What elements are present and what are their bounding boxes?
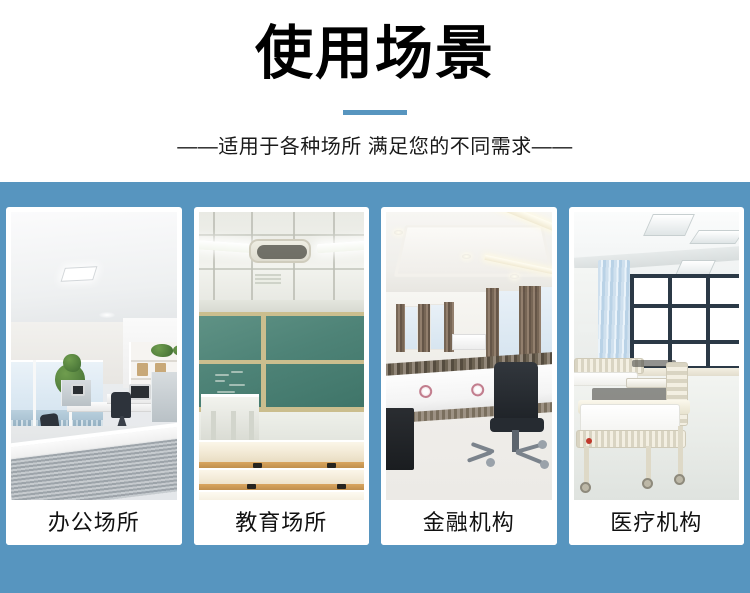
- bank-office-chair-icon: [494, 362, 538, 424]
- bank-chair-caster: [486, 458, 495, 467]
- office-panel-light-icon: [61, 266, 98, 282]
- hospital-window-mullion: [668, 278, 672, 366]
- classroom-ceiling-grid: [199, 234, 365, 236]
- classroom-desk-row: [199, 490, 365, 500]
- bank-window: [498, 290, 520, 358]
- office-downlight-icon: [99, 312, 115, 318]
- office-monitor-icon: [129, 384, 151, 400]
- office-monitor-icon: [71, 384, 85, 396]
- classroom-ceiling-grid: [333, 212, 335, 304]
- classroom-chalk-writing: [231, 371, 243, 373]
- classroom-ceiling-grid: [199, 268, 365, 270]
- hospital-bed-caster: [674, 474, 685, 485]
- office-shelf-plant-icon: [173, 345, 177, 356]
- scenario-card-list: 办公场所: [6, 207, 744, 545]
- classroom-board-frame: [261, 316, 266, 407]
- hospital-wall-fixture: [578, 324, 596, 332]
- scenario-label-office: 办公场所: [6, 500, 182, 545]
- bank-logo-emblem-icon: [471, 383, 485, 397]
- bank-downlight-icon: [510, 274, 519, 279]
- classroom-chalk-writing: [229, 384, 245, 386]
- office-shelf-plant-icon: [151, 344, 173, 357]
- office-partition: [151, 372, 177, 422]
- classroom-projector-icon: [255, 274, 281, 286]
- hospital-photo: [574, 212, 740, 500]
- classroom-vent-grille: [257, 245, 307, 259]
- classroom-air-vent-icon: [249, 239, 311, 263]
- classroom-ceiling-grid: [213, 212, 215, 304]
- bank-downlight-icon: [462, 254, 471, 259]
- scenario-label-education: 教育场所: [194, 500, 370, 545]
- usage-scenarios-page: 使用场景 ——适用于各种场所 满足您的不同需求——: [0, 0, 750, 593]
- office-shelf-row: [131, 360, 177, 362]
- bank-drape: [519, 286, 541, 358]
- bank-downlight-icon: [394, 230, 403, 235]
- classroom-board-frame: [199, 360, 365, 364]
- bank-drape: [486, 288, 499, 358]
- page-header: 使用场景 ——适用于各种场所 满足您的不同需求——: [0, 0, 750, 182]
- classroom-chalk-writing: [215, 380, 225, 382]
- classroom-photo: [199, 212, 365, 500]
- classroom-chalk-writing: [215, 374, 229, 376]
- bank-photo: [386, 212, 552, 500]
- hospital-privacy-curtain: [598, 260, 630, 372]
- bank-floor-seam: [386, 478, 552, 480]
- bank-radiator: [452, 334, 486, 350]
- office-counter-grill: [11, 437, 177, 500]
- hospital-bed-caster: [580, 482, 591, 493]
- hospital-window-transom: [634, 304, 740, 308]
- page-subtitle: ——适用于各种场所 满足您的不同需求——: [0, 133, 750, 161]
- hospital-bed-leg: [584, 446, 589, 486]
- hospital-bed-caster: [642, 478, 653, 489]
- scenario-card-office[interactable]: 办公场所: [6, 207, 182, 545]
- hospital-window: [630, 274, 740, 370]
- hospital-bed-side-rail: [576, 430, 686, 448]
- hospital-bed-control-button: [586, 438, 592, 444]
- office-chair-icon: [111, 392, 131, 418]
- scenario-card-finance[interactable]: 金融机构: [381, 207, 557, 545]
- classroom-lectern: [201, 394, 259, 442]
- bank-drape: [396, 304, 405, 352]
- scenario-card-medical[interactable]: 医疗机构: [569, 207, 745, 545]
- bank-logo-emblem-icon: [419, 385, 433, 399]
- scenario-card-education[interactable]: 教育场所: [194, 207, 370, 545]
- scenario-label-medical: 医疗机构: [569, 500, 745, 545]
- hospital-ceiling-panel: [689, 230, 739, 244]
- bank-window: [540, 286, 552, 358]
- office-floor-plant-icon: [63, 354, 81, 372]
- bank-window: [404, 306, 418, 350]
- bank-chair-caster: [540, 460, 549, 469]
- classroom-chalk-writing: [217, 391, 235, 393]
- classroom-desk-clip: [337, 484, 346, 489]
- classroom-desk-clip: [247, 484, 256, 489]
- scenario-label-finance: 金融机构: [381, 500, 557, 545]
- bank-cabinet: [386, 408, 414, 470]
- hospital-bed-leg: [678, 426, 683, 478]
- office-shelf-box: [137, 363, 148, 376]
- office-photo: [11, 212, 177, 500]
- title-divider: [343, 110, 407, 115]
- hospital-window-transom: [634, 340, 740, 344]
- bank-chair-caster: [538, 440, 547, 449]
- bank-drape: [418, 304, 430, 352]
- page-title: 使用场景: [0, 19, 750, 89]
- scenarios-band: 办公场所: [0, 182, 750, 593]
- hospital-window-mullion: [706, 278, 710, 366]
